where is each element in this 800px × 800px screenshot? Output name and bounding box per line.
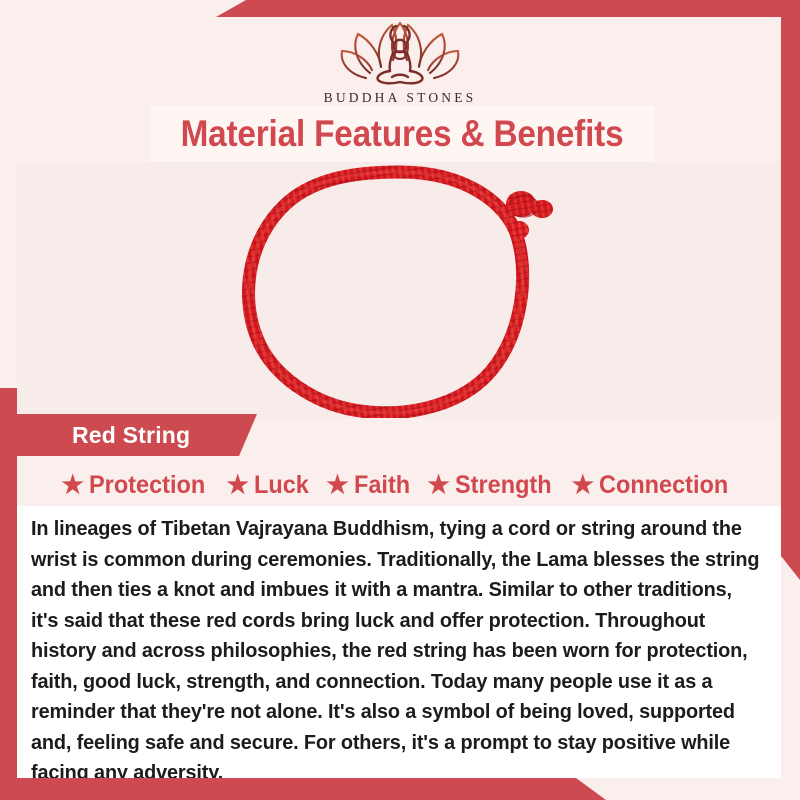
page-title-band: Material Features & Benefits bbox=[150, 106, 655, 162]
feature-label: Luck bbox=[254, 471, 309, 500]
red-braided-string-bracelet-image bbox=[17, 162, 781, 418]
description-text: In lineages of Tibetan Vajrayana Buddhis… bbox=[31, 514, 763, 789]
brand-name: BUDDHA STONES bbox=[324, 90, 477, 106]
description-panel: In lineages of Tibetan Vajrayana Buddhis… bbox=[17, 506, 781, 778]
star-icon: ★ bbox=[326, 473, 348, 498]
feature-label: Strength bbox=[455, 471, 552, 500]
product-name-label: Red String bbox=[72, 422, 190, 449]
feature-item-faith: ★ Faith bbox=[326, 471, 413, 500]
feature-item-connection: ★ Connection bbox=[572, 471, 737, 500]
star-icon: ★ bbox=[61, 473, 83, 498]
product-hero-panel bbox=[17, 162, 781, 418]
infographic-page: BUDDHA STONES Material Features & Benefi… bbox=[0, 0, 800, 800]
feature-label: Protection bbox=[89, 471, 205, 500]
brand-logo: BUDDHA STONES bbox=[0, 18, 800, 106]
feature-item-luck: ★ Luck bbox=[227, 471, 313, 500]
lotus-meditation-icon bbox=[336, 18, 464, 86]
frame-right-accent bbox=[781, 0, 800, 580]
product-name-ribbon: Red String bbox=[17, 414, 257, 456]
star-icon: ★ bbox=[427, 473, 449, 498]
feature-label: Connection bbox=[599, 471, 728, 500]
feature-list: ★ Protection ★ Luck ★ Faith ★ Strength ★… bbox=[17, 464, 781, 506]
star-icon: ★ bbox=[227, 473, 249, 498]
frame-top-accent bbox=[0, 0, 800, 17]
feature-item-protection: ★ Protection bbox=[61, 471, 212, 500]
frame-left-accent bbox=[0, 388, 17, 800]
star-icon: ★ bbox=[572, 473, 594, 498]
feature-item-strength: ★ Strength bbox=[427, 471, 557, 500]
feature-label: Faith bbox=[354, 471, 410, 500]
page-title: Material Features & Benefits bbox=[181, 113, 624, 155]
